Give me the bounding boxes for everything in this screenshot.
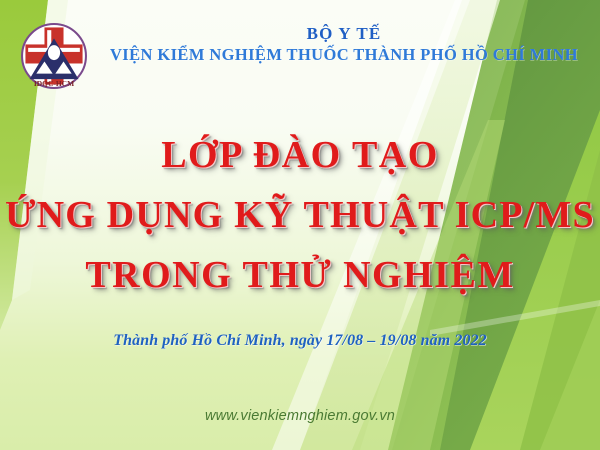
main-title-block: LỚP ĐÀO TẠO ỨNG DỤNG KỸ THUẬT ICP/MS TRO… xyxy=(0,136,600,294)
title-line-1: LỚP ĐÀO TẠO xyxy=(0,136,600,174)
ministry-title: BỘ Y TẾ xyxy=(96,24,592,44)
title-line-3: TRONG THỬ NGHIỆM xyxy=(0,256,600,294)
presentation-slide: IDQC-HCM BỘ Y TẾ VIỆN KIỂM NGHIỆM THUỐC … xyxy=(0,0,600,450)
date-location-line: Thành phố Hồ Chí Minh, ngày 17/08 – 19/0… xyxy=(0,332,600,350)
institute-title: VIỆN KIỂM NGHIỆM THUỐC THÀNH PHỐ HỒ CHÍ … xyxy=(96,45,592,65)
idqc-hcm-logo-icon: IDQC-HCM xyxy=(20,22,88,90)
logo-caption: IDQC-HCM xyxy=(34,79,74,88)
website-url: www.vienkiemnghiem.gov.vn xyxy=(0,408,600,424)
title-line-2: ỨNG DỤNG KỸ THUẬT ICP/MS xyxy=(0,196,600,234)
header-text-block: BỘ Y TẾ VIỆN KIỂM NGHIỆM THUỐC THÀNH PHỐ… xyxy=(96,24,592,64)
slide-header: IDQC-HCM BỘ Y TẾ VIỆN KIỂM NGHIỆM THUỐC … xyxy=(0,18,600,88)
